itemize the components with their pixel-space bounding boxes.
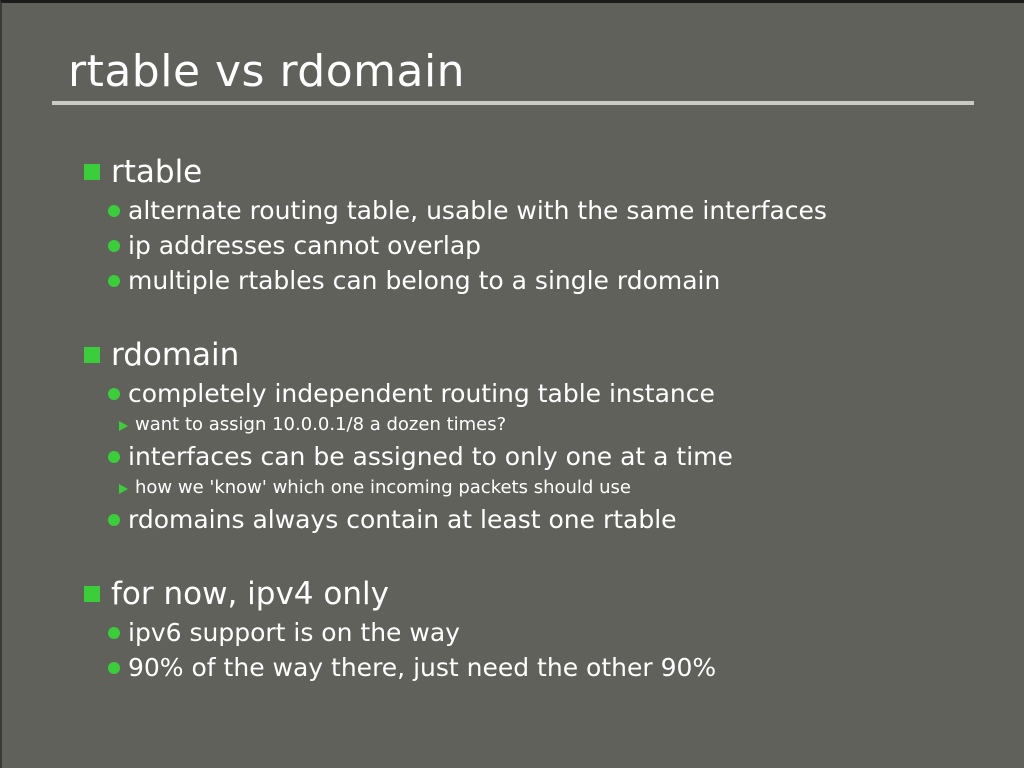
green-circle-bullet-icon — [108, 388, 120, 400]
green-square-bullet-icon — [84, 586, 100, 602]
green-circle-bullet-icon — [108, 240, 120, 252]
outline-item-label: ip addresses cannot overlap — [128, 228, 481, 263]
green-square-bullet-icon — [84, 164, 100, 180]
outline-item: rdomains always contain at least one rta… — [2, 502, 1024, 537]
outline-subitem: want to assign 10.0.0.1/8 a dozen times? — [2, 411, 1024, 439]
outline-item: multiple rtables can belong to a single … — [2, 263, 1024, 298]
outline-item-label: completely independent routing table ins… — [128, 376, 715, 411]
green-circle-bullet-icon — [108, 627, 120, 639]
outline-subitem-label: how we 'know' which one incoming packets… — [135, 474, 631, 502]
outline-item: interfaces can be assigned to only one a… — [2, 439, 1024, 474]
green-circle-bullet-icon — [108, 205, 120, 217]
page-title: rtable vs rdomain — [52, 45, 976, 99]
outline-group: rdomaincompletely independent routing ta… — [2, 334, 1024, 537]
presentation-slide: rtable vs rdomain rtablealternate routin… — [0, 0, 1024, 768]
title-block: rtable vs rdomain — [52, 45, 976, 105]
outline-item-label: ipv6 support is on the way — [128, 615, 460, 650]
green-circle-bullet-icon — [108, 514, 120, 526]
green-square-bullet-icon — [84, 347, 100, 363]
outline-item-label: multiple rtables can belong to a single … — [128, 263, 720, 298]
green-triangle-bullet-icon — [119, 421, 128, 431]
outline-item: ip addresses cannot overlap — [2, 228, 1024, 263]
outline-item: alternate routing table, usable with the… — [2, 193, 1024, 228]
outline-heading-label: rtable — [111, 151, 202, 193]
outline-item: 90% of the way there, just need the othe… — [2, 650, 1024, 685]
outline-item: ipv6 support is on the way — [2, 615, 1024, 650]
outline-heading: rtable — [2, 151, 1024, 193]
outline-group: rtablealternate routing table, usable wi… — [2, 151, 1024, 298]
outline-item-label: rdomains always contain at least one rta… — [128, 502, 677, 537]
green-circle-bullet-icon — [108, 275, 120, 287]
outline-item-label: 90% of the way there, just need the othe… — [128, 650, 716, 685]
outline-subitem: how we 'know' which one incoming packets… — [2, 474, 1024, 502]
outline-heading: rdomain — [2, 334, 1024, 376]
outline-item: completely independent routing table ins… — [2, 376, 1024, 411]
outline-item-label: alternate routing table, usable with the… — [128, 193, 827, 228]
title-divider — [52, 101, 974, 105]
outline-heading-label: rdomain — [111, 334, 239, 376]
outline-heading: for now, ipv4 only — [2, 573, 1024, 615]
outline-heading-label: for now, ipv4 only — [111, 573, 389, 615]
outline-item-label: interfaces can be assigned to only one a… — [128, 439, 733, 474]
green-circle-bullet-icon — [108, 451, 120, 463]
outline-group: for now, ipv4 onlyipv6 support is on the… — [2, 573, 1024, 685]
outline-subitem-label: want to assign 10.0.0.1/8 a dozen times? — [135, 411, 506, 439]
green-circle-bullet-icon — [108, 662, 120, 674]
green-triangle-bullet-icon — [119, 484, 128, 494]
slide-outline: rtablealternate routing table, usable wi… — [2, 151, 1024, 685]
